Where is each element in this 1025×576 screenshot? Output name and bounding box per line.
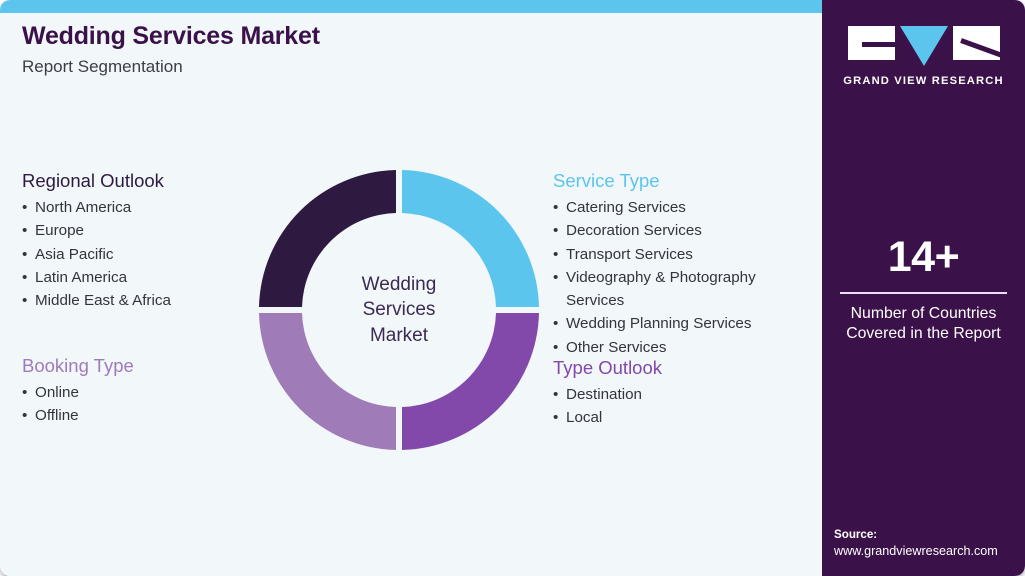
segment-list-service-type: Catering Services Decoration Services Tr… bbox=[553, 196, 815, 359]
donut-segment-service-type bbox=[402, 170, 539, 307]
donut-segment-type-outlook bbox=[402, 313, 539, 450]
segment-heading-service-type: Service Type bbox=[553, 170, 815, 192]
donut-segment-booking-type bbox=[259, 313, 396, 450]
donut-chart-svg bbox=[256, 167, 542, 453]
segment-block-service-type: Service Type Catering Services Decoratio… bbox=[553, 170, 815, 359]
donut-chart: Wedding Services Market bbox=[256, 167, 542, 453]
sidebar-panel: GRAND VIEW RESEARCH 14+ Number of Countr… bbox=[822, 0, 1025, 576]
page-subtitle: Report Segmentation bbox=[22, 57, 722, 77]
list-item: Latin America bbox=[22, 266, 252, 289]
logo-mark-group bbox=[848, 26, 1000, 66]
list-item: Decoration Services bbox=[553, 219, 815, 242]
logo-letter-g-icon bbox=[848, 26, 895, 60]
page-title: Wedding Services Market bbox=[22, 22, 722, 51]
segment-heading-regional-outlook: Regional Outlook bbox=[22, 170, 252, 192]
stat-value: 14+ bbox=[832, 236, 1015, 279]
stat-divider bbox=[840, 292, 1007, 294]
list-item: Destination bbox=[553, 383, 815, 406]
list-item: Videography & Photography Services bbox=[553, 266, 815, 313]
segment-block-regional-outlook: Regional Outlook North America Europe As… bbox=[22, 170, 252, 312]
list-item: Wedding Planning Services bbox=[553, 312, 815, 335]
list-item: Local bbox=[553, 406, 815, 429]
segment-list-regional-outlook: North America Europe Asia Pacific Latin … bbox=[22, 196, 252, 312]
list-item: Catering Services bbox=[553, 196, 815, 219]
list-item: Online bbox=[22, 381, 252, 404]
brand-logo: GRAND VIEW RESEARCH bbox=[822, 26, 1025, 87]
source-label: Source: bbox=[834, 527, 1017, 543]
logo-wordmark: GRAND VIEW RESEARCH bbox=[843, 75, 1003, 87]
list-item: Middle East & Africa bbox=[22, 289, 252, 312]
segment-heading-booking-type: Booking Type bbox=[22, 355, 252, 377]
segment-block-booking-type: Booking Type Online Offline bbox=[22, 355, 252, 428]
stat-block-countries: 14+ Number of Countries Covered in the R… bbox=[832, 236, 1015, 344]
list-item: North America bbox=[22, 196, 252, 219]
segment-list-type-outlook: Destination Local bbox=[553, 383, 815, 430]
source-url: www.grandviewresearch.com bbox=[834, 543, 1017, 560]
stat-label-line-2: Covered in the Report bbox=[832, 324, 1015, 344]
segment-list-booking-type: Online Offline bbox=[22, 381, 252, 428]
logo-letter-r-icon bbox=[953, 26, 1000, 60]
list-item: Europe bbox=[22, 219, 252, 242]
list-item: Asia Pacific bbox=[22, 243, 252, 266]
stat-label-line-1: Number of Countries bbox=[832, 304, 1015, 324]
header: Wedding Services Market Report Segmentat… bbox=[22, 22, 722, 77]
infographic-poster: Wedding Services Market Report Segmentat… bbox=[0, 0, 1025, 576]
logo-letter-v-triangle-icon bbox=[900, 26, 948, 66]
list-item: Transport Services bbox=[553, 243, 815, 266]
segment-heading-type-outlook: Type Outlook bbox=[553, 357, 815, 379]
source-block: Source: www.grandviewresearch.com bbox=[834, 527, 1017, 560]
segment-block-type-outlook: Type Outlook Destination Local bbox=[553, 357, 815, 430]
donut-segment-regional-outlook bbox=[259, 170, 396, 307]
list-item: Offline bbox=[22, 404, 252, 427]
list-item: Other Services bbox=[553, 336, 815, 359]
